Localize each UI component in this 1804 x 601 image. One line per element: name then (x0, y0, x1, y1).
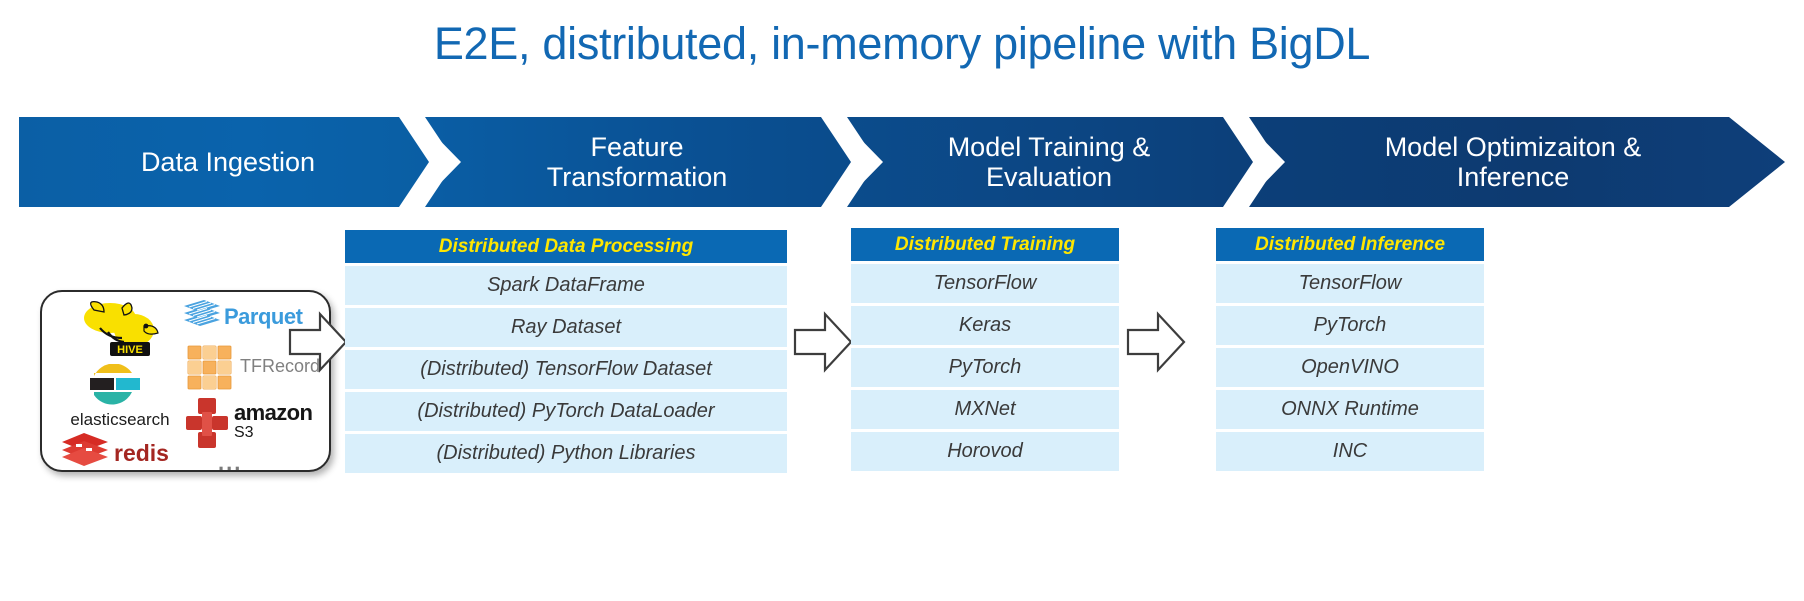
table-header: Distributed Inference (1216, 228, 1484, 261)
table-distributed-inference: Distributed Inference TensorFlow PyTorch… (1216, 228, 1484, 471)
table-header: Distributed Data Processing (345, 230, 787, 263)
redis-icon: redis (58, 428, 180, 468)
table-row[interactable]: INC (1216, 432, 1484, 471)
pipeline-stage-model-training-evaluation[interactable]: Model Training & Evaluation (839, 117, 1259, 207)
table-row[interactable]: ONNX Runtime (1216, 390, 1484, 429)
table-row[interactable]: (Distributed) Python Libraries (345, 434, 787, 473)
arrow-ingestion-to-processing-icon (288, 310, 348, 374)
table-row[interactable]: MXNet (851, 390, 1119, 429)
table-header: Distributed Training (851, 228, 1119, 261)
table-row[interactable]: Keras (851, 306, 1119, 345)
amazon-label: amazon (234, 400, 312, 426)
pipeline-stage-data-ingestion[interactable]: Data Ingestion (19, 117, 437, 207)
elasticsearch-label: elasticsearch (64, 410, 176, 430)
pipeline-stage-label: Model Optimizaiton & Inference (1385, 132, 1642, 192)
table-row[interactable]: OpenVINO (1216, 348, 1484, 387)
svg-text:HIVE: HIVE (117, 344, 143, 356)
arrow-processing-to-training-icon (793, 310, 853, 374)
pipeline-stage-model-optimization-inference[interactable]: Model Optimizaiton & Inference (1241, 117, 1785, 207)
table-row[interactable]: Ray Dataset (345, 308, 787, 347)
table-row[interactable]: TensorFlow (1216, 264, 1484, 303)
table-row[interactable]: PyTorch (851, 348, 1119, 387)
pipeline-stage-feature-transformation[interactable]: Feature Transformation (417, 117, 857, 207)
more-sources-ellipsis: ... (218, 450, 258, 470)
arrow-training-to-inference-icon (1126, 310, 1186, 374)
amazon-s3-icon: amazon S3 (182, 396, 327, 452)
table-distributed-training: Distributed Training TensorFlow Keras Py… (851, 228, 1119, 471)
table-row[interactable]: Spark DataFrame (345, 266, 787, 305)
elasticsearch-icon: elasticsearch (64, 364, 176, 428)
table-row[interactable]: PyTorch (1216, 306, 1484, 345)
page-title: E2E, distributed, in-memory pipeline wit… (0, 18, 1804, 70)
pipeline-stage-label: Data Ingestion (141, 147, 315, 177)
hive-icon: HIVE (64, 298, 176, 360)
table-row[interactable]: Horovod (851, 432, 1119, 471)
pipeline-banner: Data Ingestion Feature Transformation Mo… (19, 117, 1785, 207)
s3-label: S3 (234, 424, 254, 442)
svg-text:redis: redis (114, 440, 169, 466)
pipeline-stage-label: Feature Transformation (547, 132, 728, 192)
table-row[interactable]: TensorFlow (851, 264, 1119, 303)
pipeline-stage-label: Model Training & Evaluation (948, 132, 1151, 192)
table-distributed-data-processing: Distributed Data Processing Spark DataFr… (345, 230, 787, 473)
table-row[interactable]: (Distributed) TensorFlow Dataset (345, 350, 787, 389)
table-row[interactable]: (Distributed) PyTorch DataLoader (345, 392, 787, 431)
